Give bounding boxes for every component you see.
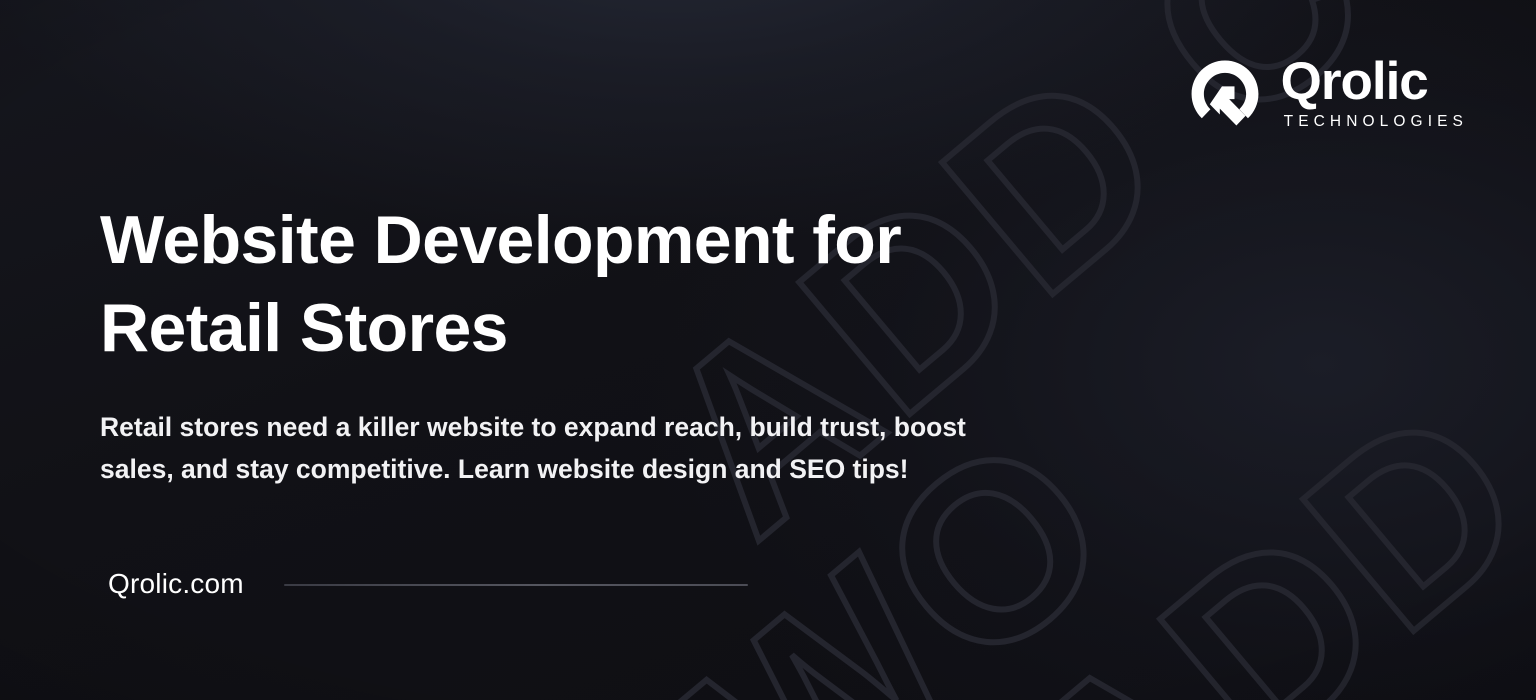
brand-name: Qrolic: [1281, 57, 1428, 107]
hero-content: Website Development for Retail Stores Re…: [100, 196, 1040, 491]
promo-banner: ADD CU WO ADD Qrolic TECHNOLOGIES Websit…: [0, 0, 1536, 700]
footer-divider: [284, 584, 748, 586]
qrolic-q-mark-icon: [1187, 56, 1263, 132]
brand-tagline: TECHNOLOGIES: [1284, 113, 1468, 131]
page-title: Website Development for Retail Stores: [100, 196, 930, 373]
hero-subhead: Retail stores need a killer website to e…: [100, 407, 1000, 491]
brand-logo-text: Qrolic TECHNOLOGIES: [1281, 57, 1468, 132]
site-url-link[interactable]: Qrolic.com: [108, 568, 244, 600]
brand-logo[interactable]: Qrolic TECHNOLOGIES: [1187, 56, 1468, 132]
footer: Qrolic.com: [108, 568, 748, 600]
